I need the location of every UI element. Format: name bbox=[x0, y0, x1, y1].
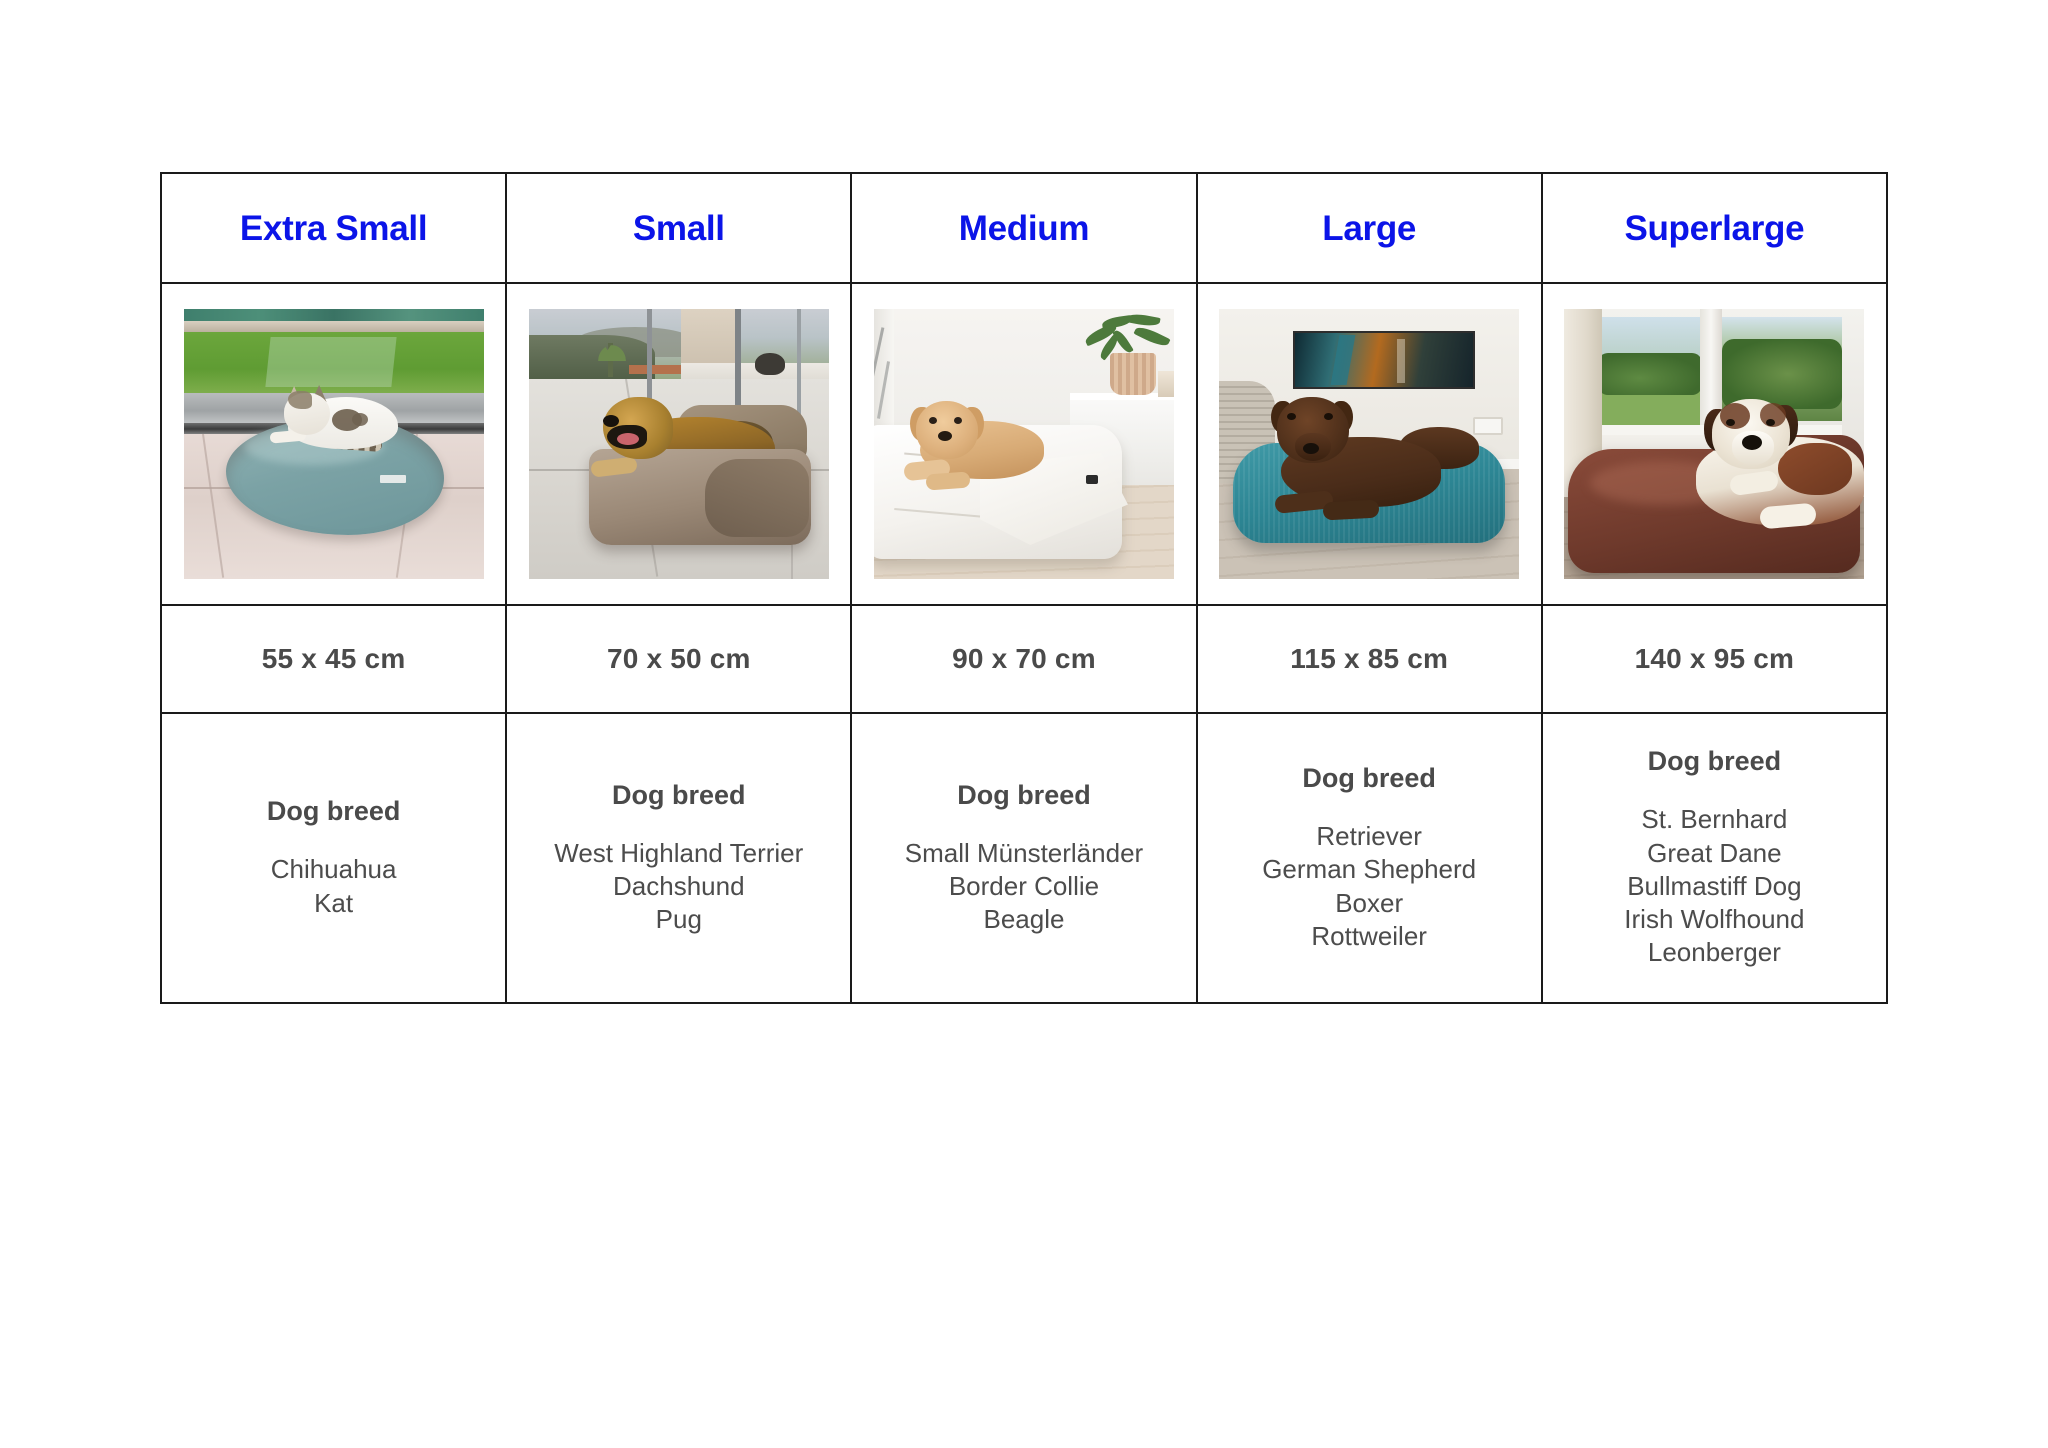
breed-item: Irish Wolfhound bbox=[1543, 903, 1886, 936]
column-header-label: Superlarge bbox=[1624, 209, 1804, 248]
dog-bed-size-table: Extra Small Small Medium Large Superlarg… bbox=[160, 172, 1888, 1004]
apricot-doodle-puppy-on-white-dog-bed-photo bbox=[874, 309, 1174, 579]
breed-item: St. Bernhard bbox=[1543, 803, 1886, 836]
column-header-label: Large bbox=[1322, 209, 1416, 248]
st-bernard-on-brown-leather-dog-bed-photo bbox=[1564, 309, 1864, 579]
dimension-label: 115 x 85 cm bbox=[1290, 643, 1448, 674]
breed-item: Dachshund bbox=[507, 870, 850, 903]
breed-item: Boxer bbox=[1198, 887, 1541, 920]
breed-cell-medium: Dog breed Small Münsterländer Border Col… bbox=[851, 713, 1196, 1003]
breed-list: St. Bernhard Great Dane Bullmastiff Dog … bbox=[1543, 803, 1886, 969]
breed-section-title: Dog breed bbox=[852, 780, 1195, 811]
dimension-cell-superlarge: 140 x 95 cm bbox=[1542, 605, 1887, 713]
chocolate-labrador-on-teal-dog-bed-photo bbox=[1219, 309, 1519, 579]
photo-wrapper bbox=[852, 309, 1195, 579]
breed-item: Great Dane bbox=[1543, 837, 1886, 870]
photo-wrapper bbox=[1543, 309, 1886, 579]
header-cell-extra-small: Extra Small bbox=[161, 173, 506, 283]
breed-item: Kat bbox=[162, 887, 505, 920]
dimension-label: 140 x 95 cm bbox=[1635, 643, 1794, 674]
dimension-cell-small: 70 x 50 cm bbox=[506, 605, 851, 713]
breed-item: Retriever bbox=[1198, 820, 1541, 853]
dimension-cell-medium: 90 x 70 cm bbox=[851, 605, 1196, 713]
dimension-cell-extra-small: 55 x 45 cm bbox=[161, 605, 506, 713]
table-photo-row bbox=[161, 283, 1887, 605]
header-cell-superlarge: Superlarge bbox=[1542, 173, 1887, 283]
breed-item: Rottweiler bbox=[1198, 920, 1541, 953]
header-cell-medium: Medium bbox=[851, 173, 1196, 283]
breed-list: Chihuahua Kat bbox=[162, 853, 505, 920]
breed-cell-superlarge: Dog breed St. Bernhard Great Dane Bullma… bbox=[1542, 713, 1887, 1003]
header-cell-large: Large bbox=[1197, 173, 1542, 283]
photo-cell-superlarge bbox=[1542, 283, 1887, 605]
breed-item: West Highland Terrier bbox=[507, 837, 850, 870]
breed-item: Leonberger bbox=[1543, 936, 1886, 969]
breed-section-title: Dog breed bbox=[1198, 763, 1541, 794]
photo-cell-small bbox=[506, 283, 851, 605]
dimension-cell-large: 115 x 85 cm bbox=[1197, 605, 1542, 713]
breed-section-title: Dog breed bbox=[507, 780, 850, 811]
photo-wrapper bbox=[507, 309, 850, 579]
breed-cell-large: Dog breed Retriever German Shepherd Boxe… bbox=[1197, 713, 1542, 1003]
table-dimension-row: 55 x 45 cm 70 x 50 cm 90 x 70 cm 115 x 8… bbox=[161, 605, 1887, 713]
breed-cell-extra-small: Dog breed Chihuahua Kat bbox=[161, 713, 506, 1003]
cat-on-blue-grey-dog-bed-photo bbox=[184, 309, 484, 579]
breed-item: Chihuahua bbox=[162, 853, 505, 886]
breed-item: Beagle bbox=[852, 903, 1195, 936]
terrier-on-brown-leather-dog-bed-photo bbox=[529, 309, 829, 579]
dimension-label: 55 x 45 cm bbox=[262, 643, 406, 674]
photo-cell-extra-small bbox=[161, 283, 506, 605]
breed-section-title: Dog breed bbox=[162, 796, 505, 827]
breed-list: West Highland Terrier Dachshund Pug bbox=[507, 837, 850, 937]
breed-list: Retriever German Shepherd Boxer Rottweil… bbox=[1198, 820, 1541, 953]
header-cell-small: Small bbox=[506, 173, 851, 283]
table-header-row: Extra Small Small Medium Large Superlarg… bbox=[161, 173, 1887, 283]
dimension-label: 70 x 50 cm bbox=[607, 643, 751, 674]
table-breed-row: Dog breed Chihuahua Kat Dog breed West H… bbox=[161, 713, 1887, 1003]
column-header-label: Small bbox=[633, 209, 725, 248]
photo-wrapper bbox=[162, 309, 505, 579]
breed-section-title: Dog breed bbox=[1543, 746, 1886, 777]
page-canvas: Extra Small Small Medium Large Superlarg… bbox=[0, 0, 2048, 1448]
breed-item: Small Münsterländer bbox=[852, 837, 1195, 870]
breed-item: Pug bbox=[507, 903, 850, 936]
photo-cell-large bbox=[1197, 283, 1542, 605]
breed-item: Bullmastiff Dog bbox=[1543, 870, 1886, 903]
column-header-label: Extra Small bbox=[240, 209, 427, 248]
breed-list: Small Münsterländer Border Collie Beagle bbox=[852, 837, 1195, 937]
photo-wrapper bbox=[1198, 309, 1541, 579]
column-header-label: Medium bbox=[959, 209, 1089, 248]
dimension-label: 90 x 70 cm bbox=[952, 643, 1096, 674]
breed-cell-small: Dog breed West Highland Terrier Dachshun… bbox=[506, 713, 851, 1003]
photo-cell-medium bbox=[851, 283, 1196, 605]
breed-item: Border Collie bbox=[852, 870, 1195, 903]
breed-item: German Shepherd bbox=[1198, 853, 1541, 886]
